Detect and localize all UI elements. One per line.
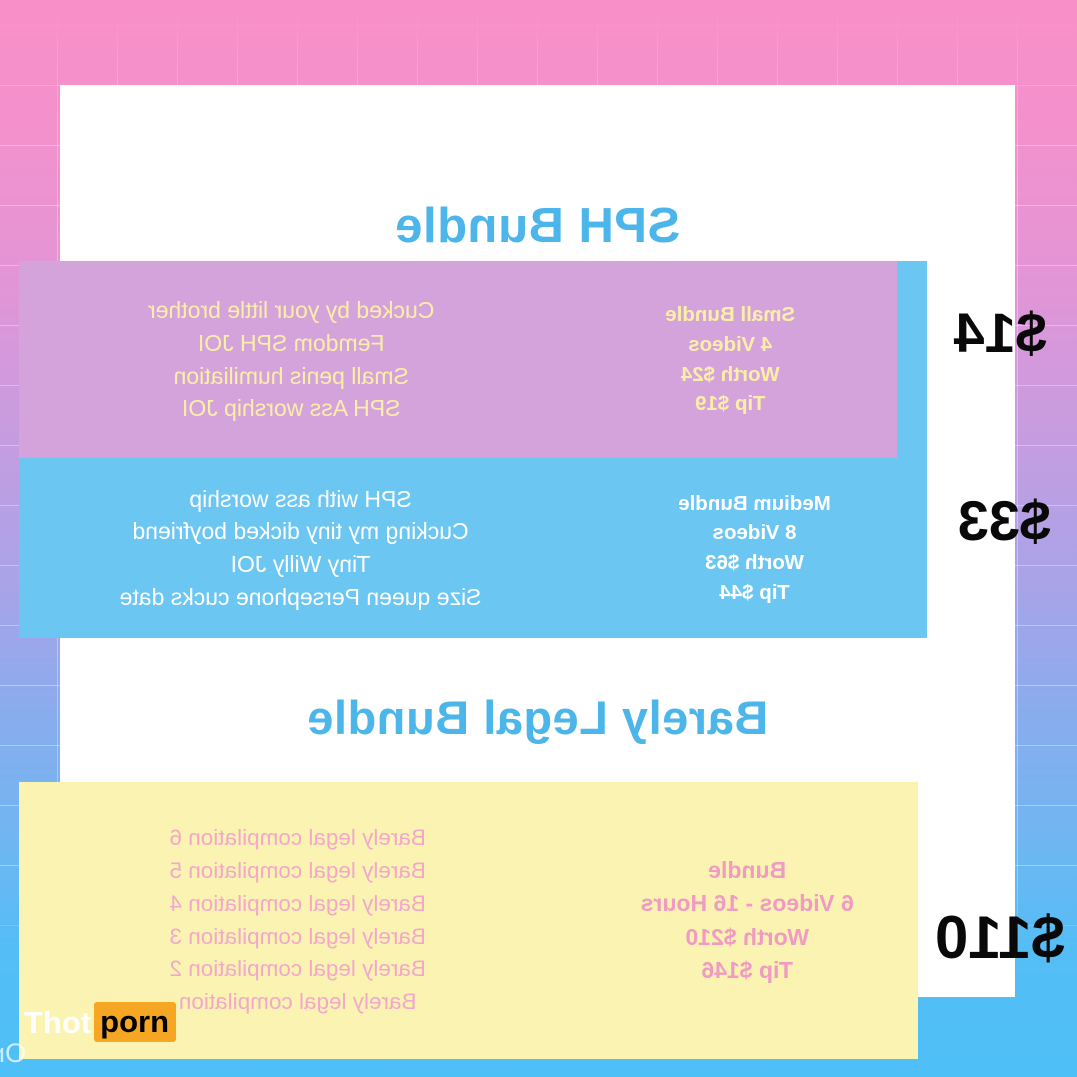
tier-name-medium: Medium Bundle bbox=[582, 489, 927, 519]
tier-item: SPH Ass worship JOI bbox=[19, 392, 563, 425]
tier-item: Barely legal compilation 5 bbox=[19, 855, 576, 888]
poster-card: SPH Bundle Small Bundle 4 Videos Worth $… bbox=[60, 85, 1015, 997]
tier-item: Femdom SPH JOI bbox=[19, 327, 563, 360]
tier-worth-small: Worth $24 bbox=[563, 360, 897, 390]
tier-videos-medium: 8 Videos bbox=[582, 518, 927, 548]
section-title-barely-legal: Barely Legal Bundle bbox=[60, 690, 1015, 745]
tier-row-small: Small Bundle 4 Videos Worth $24 Tip $19 … bbox=[19, 261, 927, 458]
tier-name-bl: Bundle bbox=[576, 854, 918, 887]
price-tag-medium: $33 bbox=[958, 488, 1051, 553]
watermark-brand: Thot porn bbox=[24, 1002, 176, 1042]
section-title-sph: SPH Bundle bbox=[60, 198, 1015, 254]
tier-item: Tiny Willy JOI bbox=[19, 548, 582, 581]
watermark-brand-part1: Thot bbox=[24, 1007, 94, 1038]
tier-tip-small: Tip $19 bbox=[563, 389, 897, 419]
tier-tip-medium: Tip $44 bbox=[582, 578, 927, 608]
tier-row-medium: Medium Bundle 8 Videos Worth $63 Tip $44… bbox=[19, 458, 927, 638]
tier-videos-bl: 6 Videos - 16 Hours bbox=[576, 887, 918, 920]
tier-items-barely-legal: Barely legal compilation 6 Barely legal … bbox=[19, 822, 576, 1019]
tier-summary-barely-legal: Bundle 6 Videos - 16 Hours Worth $210 Ti… bbox=[576, 854, 918, 987]
tier-worth-bl: Worth $210 bbox=[576, 921, 918, 954]
price-tag-small: $14 bbox=[954, 300, 1047, 365]
tier-item: Cucking my tiny dicked boyfriend bbox=[19, 515, 582, 548]
mirrored-poster-layer: SPH Bundle Small Bundle 4 Videos Worth $… bbox=[0, 0, 1077, 1077]
tier-item: SPH with ass worship bbox=[19, 483, 582, 516]
tier-items-small: Cucked by your little brother Femdom SPH… bbox=[19, 294, 563, 425]
tier-videos-small: 4 Videos bbox=[563, 330, 897, 360]
tier-item: Size queen Persephone cucks date bbox=[19, 581, 582, 614]
tier-worth-medium: Worth $63 bbox=[582, 548, 927, 578]
tier-items-medium: SPH with ass worship Cucking my tiny dic… bbox=[19, 483, 582, 614]
price-tag-barely-legal: $110 bbox=[935, 903, 1065, 972]
tier-item: Barely legal compilation 6 bbox=[19, 822, 576, 855]
tier-summary-medium: Medium Bundle 8 Videos Worth $63 Tip $44 bbox=[582, 489, 927, 608]
tier-tip-bl: Tip $146 bbox=[576, 954, 918, 987]
watermark-url: OnlyFans.com/aonrsiutshame bbox=[0, 1038, 26, 1069]
tier-item: Barely legal compilation 4 bbox=[19, 888, 576, 921]
tier-item: Small penis humiliation bbox=[19, 360, 563, 393]
tier-name-small: Small Bundle bbox=[563, 300, 897, 330]
watermark-brand-part2: porn bbox=[94, 1002, 176, 1042]
tier-item: Barely legal compilation 3 bbox=[19, 921, 576, 954]
tier-summary-small: Small Bundle 4 Videos Worth $24 Tip $19 bbox=[563, 300, 897, 419]
tier-item: Barely legal compilation 2 bbox=[19, 953, 576, 986]
tier-item: Cucked by your little brother bbox=[19, 294, 563, 327]
